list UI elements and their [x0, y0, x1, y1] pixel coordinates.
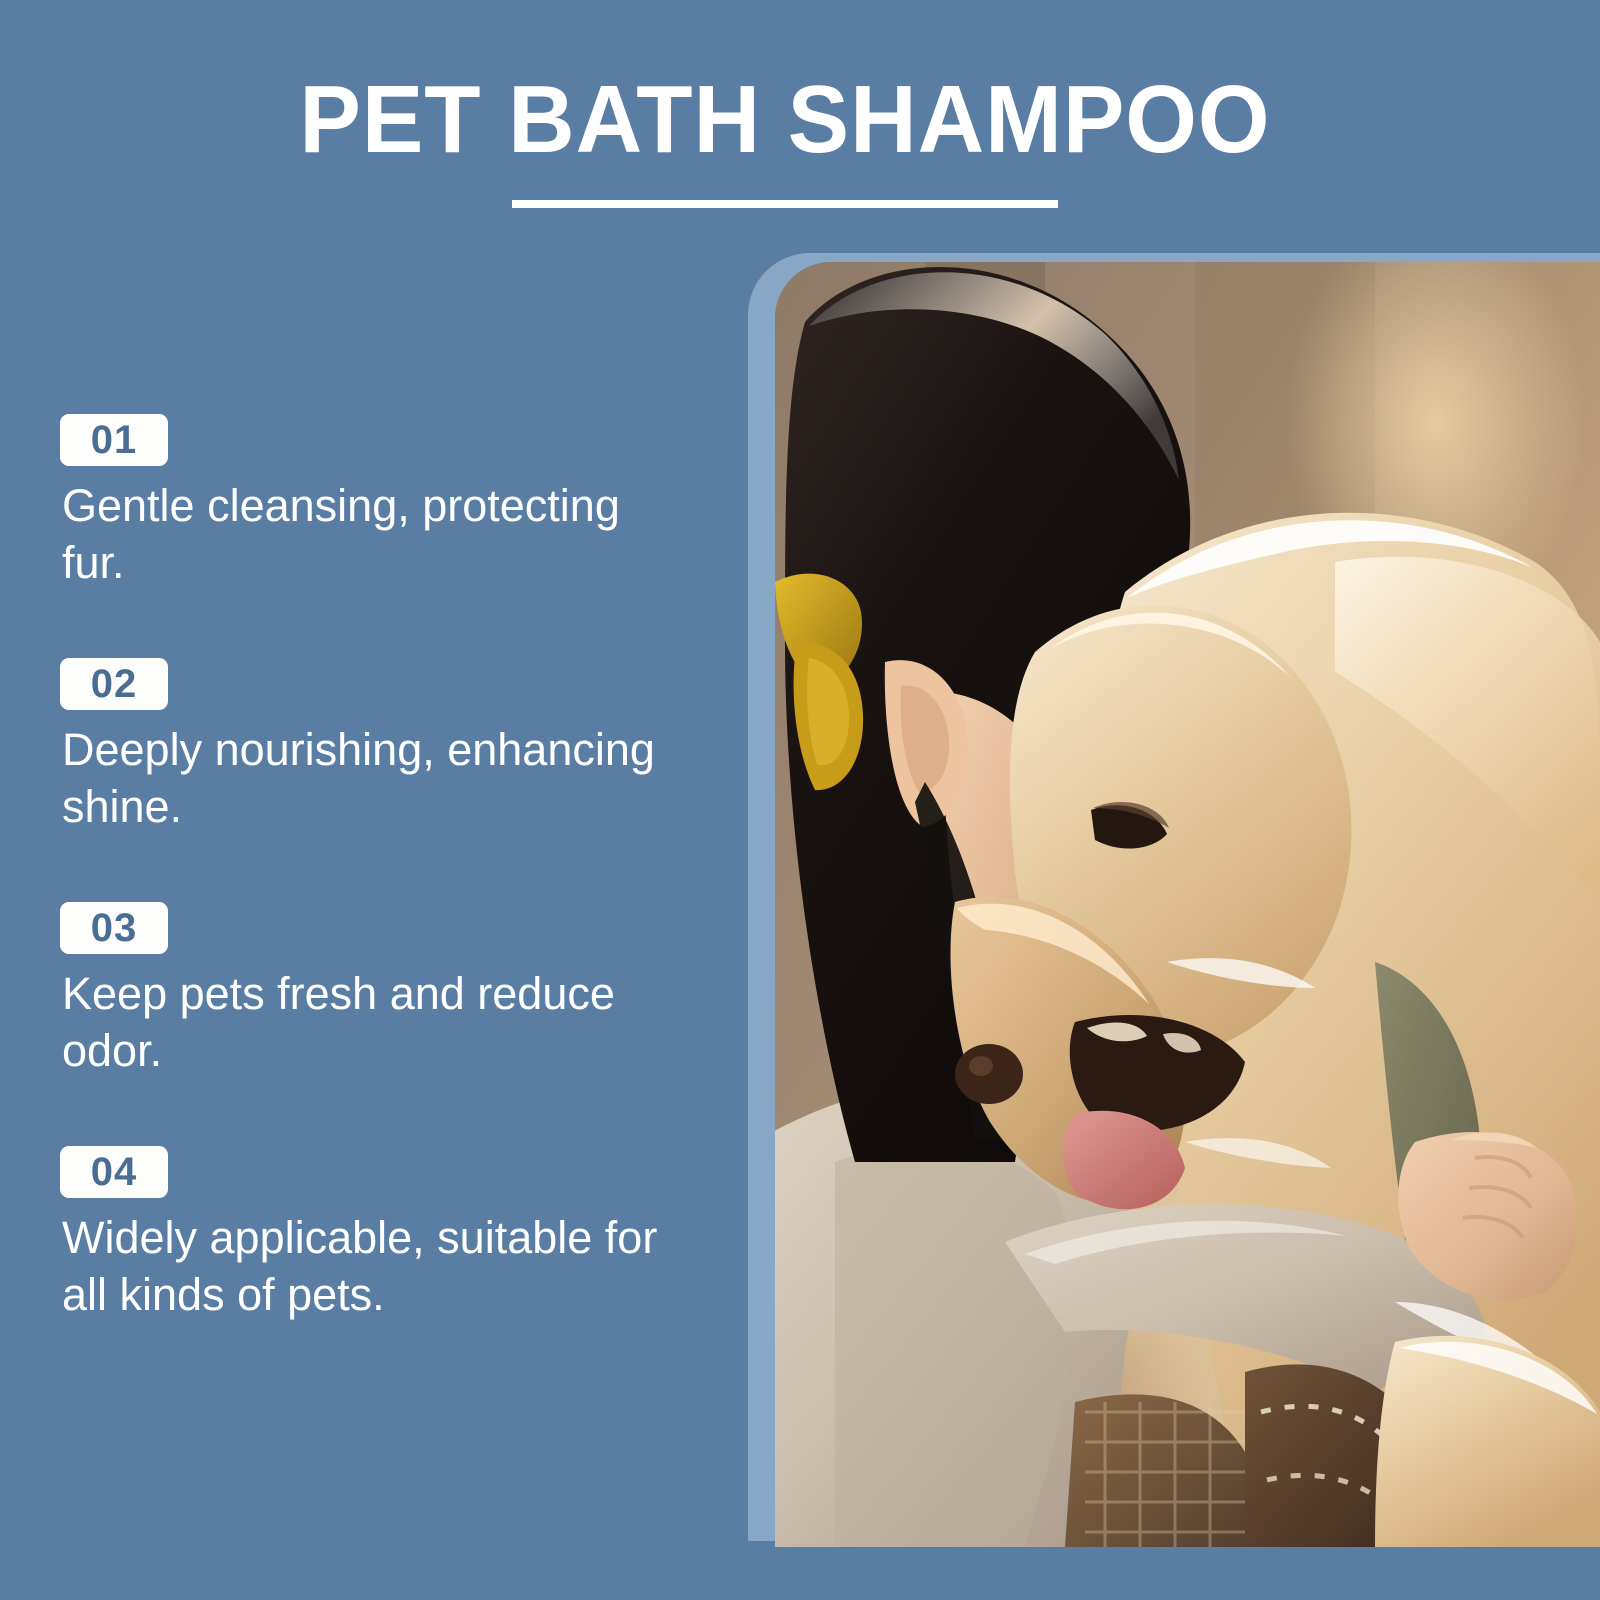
dog-nose	[955, 1044, 1023, 1104]
feature-item-01: 01 Gentle cleansing, protecting fur.	[60, 414, 700, 658]
feature-number-badge-04: 04	[60, 1146, 168, 1198]
feature-number-badge-01: 01	[60, 414, 168, 466]
feature-list: 01 Gentle cleansing, protecting fur. 02 …	[60, 414, 700, 1390]
feature-item-04: 04 Widely applicable, suitable for all k…	[60, 1146, 700, 1390]
feature-text-04: Widely applicable, suitable for all kind…	[62, 1210, 687, 1323]
feature-text-02: Deeply nourishing, enhancing shine.	[62, 722, 687, 835]
feature-number-badge-03: 03	[60, 902, 168, 954]
title-underline-rule	[512, 200, 1058, 208]
poster-root: PET BATH SHAMPOO 01 Gentle cleansing, pr…	[0, 0, 1600, 1600]
feature-item-02: 02 Deeply nourishing, enhancing shine.	[60, 658, 700, 902]
feature-text-01: Gentle cleansing, protecting fur.	[62, 478, 687, 591]
feature-text-03: Keep pets fresh and reduce odor.	[62, 966, 687, 1079]
page-title: PET BATH SHAMPOO	[31, 72, 1538, 168]
feature-item-03: 03 Keep pets fresh and reduce odor.	[60, 902, 700, 1146]
product-photo	[775, 262, 1600, 1547]
feature-number-badge-02: 02	[60, 658, 168, 710]
